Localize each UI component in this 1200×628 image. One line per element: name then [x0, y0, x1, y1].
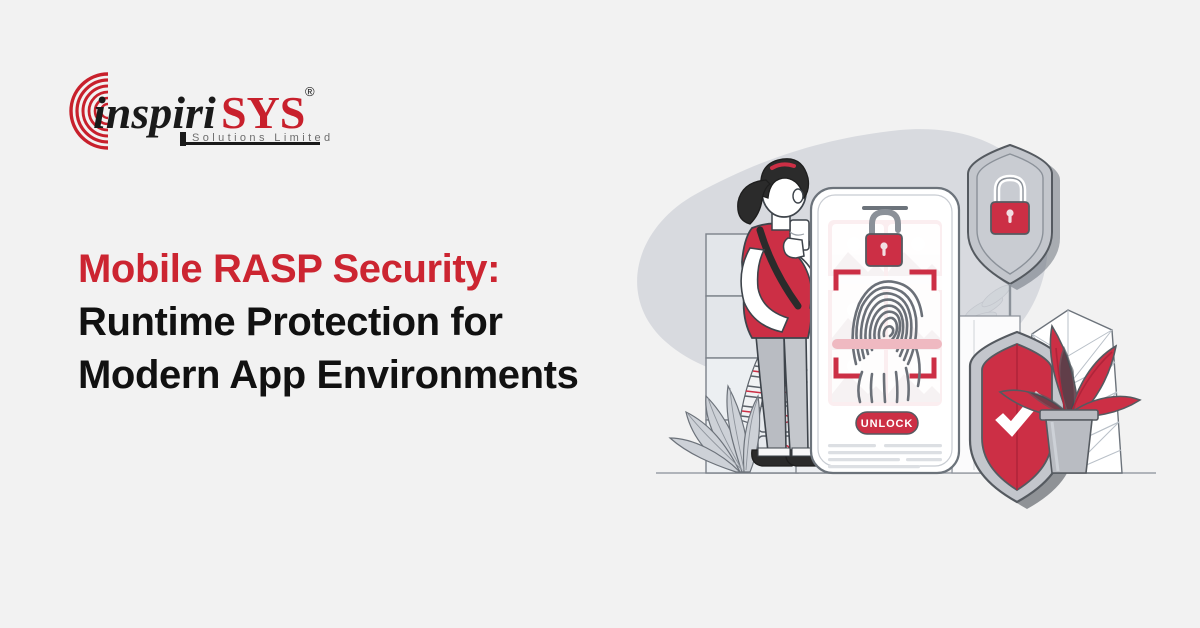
page-title: Mobile RASP Security: Runtime Protection… [78, 243, 638, 402]
logo-tagline: Solutions Limited [192, 132, 332, 144]
headline-line-3: Modern App Environments [78, 349, 638, 402]
scan-line [832, 339, 942, 349]
inspirisys-logo[interactable]: inspiri SYS ® Solutions Limited [62, 68, 332, 156]
mobile-biometric-security-illustration: UNLOCK [600, 120, 1200, 520]
registered-mark-icon: ® [305, 84, 315, 99]
logo-word-accent: SYS [221, 87, 305, 138]
banner-canvas: inspiri SYS ® Solutions Limited Mobile R… [0, 0, 1200, 628]
pot-rim [1040, 410, 1098, 420]
logo-word-dark: inspiri [93, 87, 216, 138]
smartphone-device[interactable]: UNLOCK [811, 188, 959, 473]
headline-line-1: Mobile RASP Security: [78, 243, 638, 296]
unlock-button-label: UNLOCK [861, 418, 913, 430]
headline-line-2: Runtime Protection for [78, 296, 638, 349]
unlock-button[interactable]: UNLOCK [856, 412, 918, 434]
